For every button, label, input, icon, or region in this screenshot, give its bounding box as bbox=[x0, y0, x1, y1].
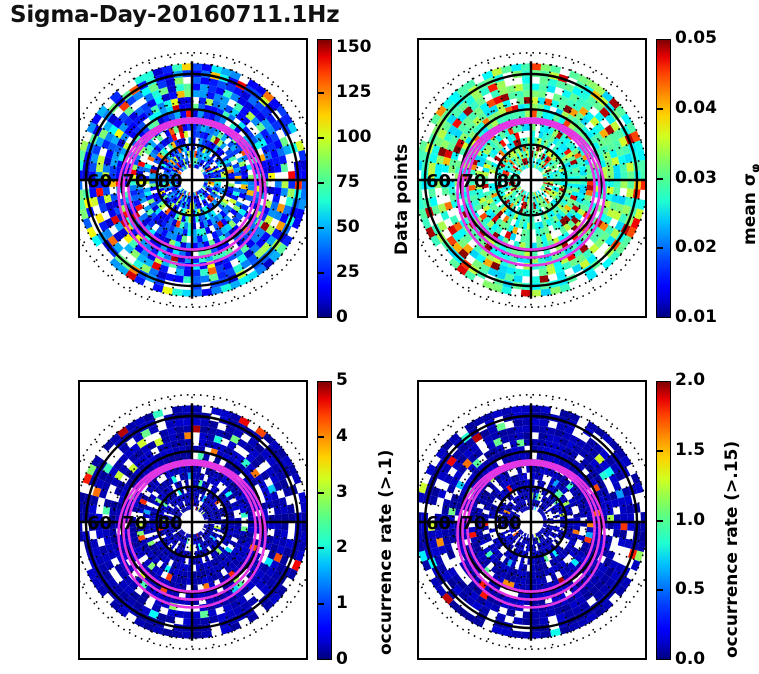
polar-data-cell bbox=[172, 64, 183, 72]
polar-data-cell bbox=[301, 180, 306, 190]
colorbar-tick-label: 25 bbox=[336, 262, 360, 282]
polar-data-cell bbox=[288, 171, 295, 180]
polar-data-cell bbox=[192, 611, 200, 618]
polar-data-cell bbox=[200, 617, 210, 625]
colorbar-occurrence-rate-01[interactable] bbox=[317, 381, 332, 660]
colorbar-tick bbox=[317, 137, 324, 139]
polar-data-cell bbox=[620, 172, 627, 180]
polar-data-cell bbox=[531, 289, 541, 296]
polar-plot-area: 607080 bbox=[419, 382, 645, 658]
polar-data-cell bbox=[606, 187, 614, 195]
polar-data-cell bbox=[517, 439, 525, 447]
polar-data-cell bbox=[301, 512, 306, 522]
colorbar-tick bbox=[317, 227, 324, 229]
polar-data-cell bbox=[192, 618, 201, 625]
polar-grid bbox=[419, 52, 645, 308]
polar-data-cell bbox=[517, 97, 525, 105]
latitude-labels: 607080 bbox=[426, 513, 522, 534]
polar-data-cell bbox=[539, 275, 549, 283]
polar-plot-svg: 607080 bbox=[419, 40, 645, 316]
polar-data-cell bbox=[301, 522, 306, 532]
colorbar-tick-label: 1.0 bbox=[675, 510, 705, 530]
polar-data-cell bbox=[531, 276, 540, 283]
colorbar-tick bbox=[656, 108, 663, 110]
latitude-label-80: 80 bbox=[158, 513, 183, 534]
polar-data-cell bbox=[627, 513, 634, 522]
colorbar-tick bbox=[656, 247, 663, 249]
colorbar-tick bbox=[317, 436, 324, 438]
colorbar-data-points[interactable] bbox=[317, 39, 332, 318]
polar-data-cell bbox=[523, 269, 531, 276]
polar-data-cell bbox=[539, 419, 549, 427]
polar-data-cell bbox=[199, 97, 207, 105]
polar-data-cell bbox=[192, 269, 200, 276]
polar-data-cell bbox=[541, 576, 548, 584]
polar-data-cell bbox=[538, 97, 546, 105]
colorbar-tick bbox=[317, 182, 324, 184]
polar-data-cell bbox=[287, 504, 295, 514]
colorbar-tick-label: 2.0 bbox=[675, 370, 705, 390]
polar-data-cell bbox=[513, 419, 523, 427]
polar-data-cell bbox=[619, 505, 627, 514]
polar-plot-area: 607080 bbox=[419, 40, 645, 316]
polar-data-cell bbox=[541, 288, 552, 296]
latitude-label-60: 60 bbox=[87, 513, 112, 534]
colorbar-gradient bbox=[318, 40, 331, 317]
latitude-labels: 607080 bbox=[87, 171, 183, 192]
polar-data-cell bbox=[522, 618, 531, 625]
polar-plot-area: 607080 bbox=[80, 40, 306, 316]
polar-data-cell bbox=[174, 77, 184, 85]
colorbar-tick-label: 0.01 bbox=[675, 307, 717, 327]
colorbar-tick bbox=[317, 547, 324, 549]
polar-panel-data-points[interactable]: 607080 bbox=[78, 38, 308, 318]
polar-data-cell bbox=[620, 180, 627, 188]
polar-data-cell bbox=[298, 150, 306, 161]
colorbar-tick bbox=[656, 450, 663, 452]
colorbar-title-occurrence-rate-01: occurrence rate (>.1) bbox=[376, 450, 396, 655]
polar-data-cell bbox=[288, 513, 295, 522]
polar-data-cell bbox=[192, 289, 202, 296]
polar-data-cell bbox=[513, 617, 523, 625]
latitude-label-70: 70 bbox=[461, 513, 486, 534]
latitude-label-70: 70 bbox=[461, 171, 486, 192]
colorbar-tick bbox=[656, 589, 663, 591]
colorbar-tick bbox=[656, 178, 663, 180]
colorbar-tick-label: 0 bbox=[336, 649, 348, 669]
polar-data-cell bbox=[202, 234, 209, 242]
polar-data-cell bbox=[185, 479, 189, 486]
polar-data-cell bbox=[182, 405, 192, 412]
polar-data-cell bbox=[626, 504, 634, 514]
polar-data-cell bbox=[606, 166, 614, 174]
colorbar-tick-label: 150 bbox=[336, 37, 372, 57]
polar-data-cell bbox=[199, 439, 207, 447]
colorbar-tick bbox=[317, 603, 324, 605]
polar-data-cell bbox=[80, 522, 83, 532]
polar-data-cell bbox=[620, 522, 627, 530]
polar-data-cell bbox=[521, 405, 531, 412]
polar-data-cell bbox=[511, 406, 522, 414]
polar-data-cell bbox=[192, 84, 200, 91]
polar-data-cell bbox=[523, 611, 531, 618]
polar-data-cell bbox=[539, 617, 549, 625]
figure-title: Sigma-Day-20160711.1Hz bbox=[10, 2, 339, 28]
colorbar-tick-label: 100 bbox=[336, 127, 372, 147]
polar-data-cell bbox=[183, 276, 192, 283]
polar-data-cell bbox=[183, 419, 192, 426]
colorbar-tick-label: 5 bbox=[336, 370, 348, 390]
polar-data-cell bbox=[538, 439, 546, 447]
polar-data-cell bbox=[280, 188, 288, 197]
polar-data-cell bbox=[627, 522, 634, 531]
colorbar-tick bbox=[656, 520, 663, 522]
polar-data-cell bbox=[280, 163, 288, 172]
polar-data-cell bbox=[175, 426, 184, 434]
polar-data-cell bbox=[539, 84, 548, 92]
polar-data-cell bbox=[202, 288, 213, 296]
polar-data-cell bbox=[200, 84, 209, 92]
polar-data-cell bbox=[175, 268, 184, 276]
polar-data-cell bbox=[184, 611, 192, 618]
polar-data-cell bbox=[80, 180, 83, 190]
latitude-label-80: 80 bbox=[158, 171, 183, 192]
colorbar-tick-label: 1 bbox=[336, 593, 348, 613]
colorbar-tick-label: 75 bbox=[336, 172, 360, 192]
colorbar-tick-label: 0.04 bbox=[675, 98, 717, 118]
polar-data-cell bbox=[531, 63, 541, 70]
polar-data-cell bbox=[627, 171, 634, 180]
colorbar-tick-label: 0.05 bbox=[675, 28, 717, 48]
polar-data-cell bbox=[288, 180, 295, 189]
polar-data-cell bbox=[178, 439, 186, 447]
polar-data-cell bbox=[640, 522, 645, 532]
polar-data-cell bbox=[522, 77, 531, 84]
polar-data-cell bbox=[182, 63, 192, 70]
colorbar-title-mean-sigma-phi: mean σφ bbox=[740, 164, 759, 245]
polar-data-cell bbox=[419, 190, 423, 201]
polar-data-cell bbox=[192, 276, 201, 283]
polar-data-cell bbox=[267, 166, 275, 174]
polar-data-cell bbox=[200, 275, 210, 283]
polar-plot-area: 607080 bbox=[80, 382, 306, 658]
polar-data-cell bbox=[298, 492, 306, 503]
polar-data-cell bbox=[627, 180, 634, 189]
colorbar-tick bbox=[317, 492, 324, 494]
polar-data-cell bbox=[175, 610, 184, 618]
polar-plot-svg: 607080 bbox=[419, 382, 645, 658]
polar-data-cell bbox=[620, 514, 627, 522]
polar-data-cell bbox=[192, 419, 201, 426]
colorbar-tick-label: 0.03 bbox=[675, 168, 717, 188]
polar-grid bbox=[80, 394, 306, 650]
polar-data-cell bbox=[531, 419, 540, 426]
polar-data-cell bbox=[281, 514, 288, 522]
polar-data-cell bbox=[301, 170, 306, 180]
polar-data-cell bbox=[202, 630, 213, 638]
polar-data-cell bbox=[200, 268, 209, 276]
polar-data-cell bbox=[626, 188, 634, 198]
polar-data-cell bbox=[511, 64, 522, 72]
polar-data-cell bbox=[184, 269, 192, 276]
polar-data-cell bbox=[532, 157, 535, 164]
colorbar-title-data-points: Data points bbox=[392, 144, 412, 255]
polar-data-cell bbox=[539, 268, 548, 276]
polar-data-cell bbox=[178, 97, 186, 105]
polar-data-cell bbox=[192, 77, 201, 84]
polar-data-cell bbox=[521, 63, 531, 70]
polar-plot-svg: 607080 bbox=[80, 40, 306, 316]
polar-data-cell bbox=[482, 280, 494, 290]
polar-data-cell bbox=[300, 502, 306, 513]
colorbar-gradient bbox=[318, 382, 331, 659]
polar-data-cell bbox=[514, 268, 523, 276]
figure-canvas: Sigma-Day-20160711.1Hz 607080 0255075100… bbox=[0, 0, 759, 674]
colorbar-title-subscript: φ bbox=[748, 164, 759, 173]
colorbar-tick-label: 0.5 bbox=[675, 579, 705, 599]
polar-data-cell bbox=[531, 84, 539, 91]
polar-data-cell bbox=[267, 187, 275, 195]
polar-data-cell bbox=[175, 84, 184, 92]
polar-data-cell bbox=[626, 162, 634, 172]
colorbar-title-text: mean σ bbox=[740, 173, 759, 245]
polar-data-cell bbox=[184, 426, 192, 433]
colorbar-tick-label: 0 bbox=[336, 307, 348, 327]
polar-data-cell bbox=[531, 618, 540, 625]
colorbar-title-occurrence-rate-015: occurrence rate (>.15) bbox=[722, 441, 742, 658]
colorbar-tick-label: 125 bbox=[336, 82, 372, 102]
colorbar-tick bbox=[317, 92, 324, 94]
latitude-labels: 607080 bbox=[87, 513, 183, 534]
polar-data-cell bbox=[172, 406, 183, 414]
polar-data-cell bbox=[513, 275, 523, 283]
polar-data-cell bbox=[523, 84, 531, 91]
colorbar-tick-label: 2 bbox=[336, 537, 348, 557]
latitude-label-80: 80 bbox=[497, 171, 522, 192]
polar-data-cell bbox=[619, 530, 627, 539]
latitude-label-70: 70 bbox=[122, 171, 147, 192]
colorbar-tick-label: 1.5 bbox=[675, 440, 705, 460]
polar-data-cell bbox=[514, 84, 523, 92]
polar-data-cell bbox=[531, 405, 541, 412]
polar-data-cell bbox=[520, 235, 526, 242]
colorbar-tick bbox=[317, 272, 324, 274]
polar-grid bbox=[80, 52, 306, 308]
polar-data-cell bbox=[539, 426, 548, 434]
polar-data-cell bbox=[211, 407, 222, 416]
polar-data-cell bbox=[200, 419, 210, 427]
polar-data-cell bbox=[523, 426, 531, 433]
latitude-label-80: 80 bbox=[497, 513, 522, 534]
colorbar-tick-label: 0.0 bbox=[675, 649, 705, 669]
polar-data-cell bbox=[531, 426, 539, 433]
colorbar-tick-label: 3 bbox=[336, 482, 348, 502]
latitude-label-70: 70 bbox=[122, 513, 147, 534]
polar-data-cell bbox=[174, 275, 184, 283]
polar-data-cell bbox=[200, 77, 210, 85]
polar-data-cell bbox=[287, 188, 295, 198]
polar-data-cell bbox=[280, 505, 288, 514]
latitude-label-60: 60 bbox=[87, 171, 112, 192]
polar-data-cell bbox=[192, 426, 200, 433]
polar-data-cell bbox=[606, 508, 614, 516]
latitude-label-60: 60 bbox=[426, 513, 451, 534]
polar-data-cell bbox=[522, 419, 531, 426]
polar-panel-mean-sigma-phi[interactable]: 607080 bbox=[417, 38, 647, 318]
polar-data-cell bbox=[539, 610, 548, 618]
polar-panel-occurrence-rate-015[interactable]: 607080 bbox=[417, 380, 647, 660]
polar-data-cell bbox=[640, 512, 645, 522]
polar-data-cell bbox=[192, 405, 202, 412]
latitude-labels: 607080 bbox=[426, 171, 522, 192]
polar-grid bbox=[419, 394, 645, 650]
polar-data-cell bbox=[200, 426, 209, 434]
polar-data-cell bbox=[539, 77, 549, 85]
colorbar-tick-label: 0.02 bbox=[675, 237, 717, 257]
colorbar-tick-label: 50 bbox=[336, 217, 360, 237]
polar-data-cell bbox=[281, 180, 288, 188]
polar-data-cell bbox=[531, 631, 541, 638]
polar-data-cell bbox=[550, 628, 561, 637]
polar-data-cell bbox=[200, 610, 209, 618]
polar-data-cell bbox=[531, 611, 539, 618]
polar-plot-svg: 607080 bbox=[80, 382, 306, 658]
polar-data-cell bbox=[619, 163, 627, 172]
polar-data-cell bbox=[541, 630, 552, 638]
latitude-label-60: 60 bbox=[426, 171, 451, 192]
colorbar-tick-label: 4 bbox=[336, 426, 348, 446]
polar-data-cell bbox=[174, 419, 184, 427]
polar-data-cell bbox=[631, 560, 641, 572]
polar-data-cell bbox=[192, 63, 202, 70]
polar-data-cell bbox=[514, 426, 523, 434]
polar-panel-occurrence-rate-01[interactable]: 607080 bbox=[78, 380, 308, 660]
polar-data-cell bbox=[281, 522, 288, 530]
polar-data-cell bbox=[192, 631, 202, 638]
polar-data-cell bbox=[640, 170, 645, 180]
polar-data-cell bbox=[280, 530, 288, 539]
polar-data-cell bbox=[183, 618, 192, 625]
polar-data-cell bbox=[184, 84, 192, 91]
polar-data-cell bbox=[501, 65, 512, 74]
polar-data-cell bbox=[640, 180, 645, 190]
